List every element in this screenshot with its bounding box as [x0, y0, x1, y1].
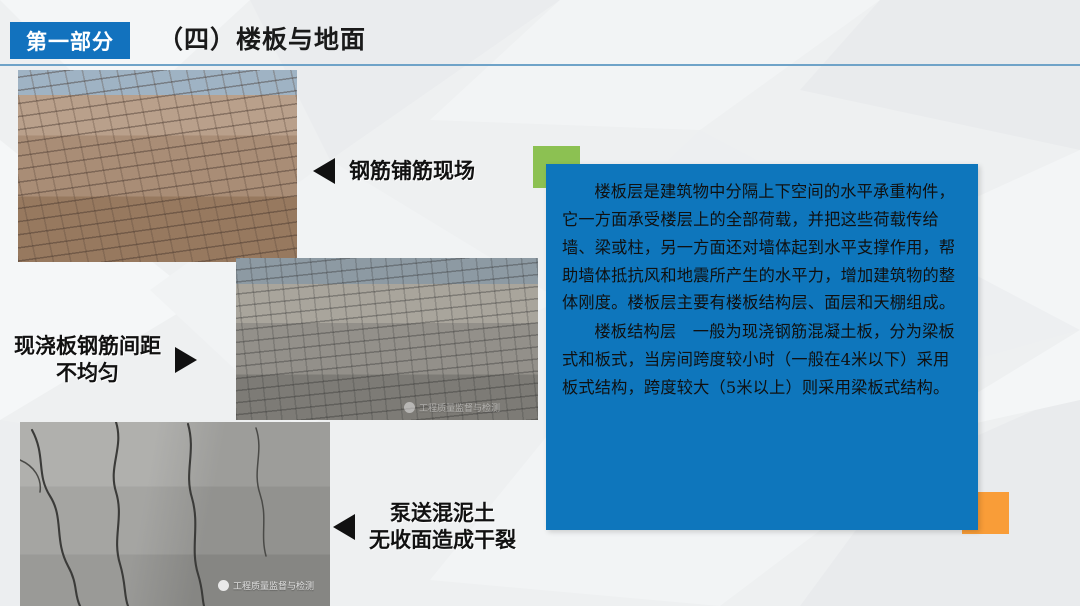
triangle-left-icon — [313, 158, 335, 184]
header-divider — [0, 64, 1080, 66]
body-paragraph-2: 楼板结构层 一般为现浇钢筋混凝土板，分为梁板式和板式，当房间跨度较小时（一般在4… — [562, 318, 962, 402]
concrete-pouring-photo: 工程质量监督与检测 — [236, 258, 538, 420]
caption-rebar-site: 钢筋铺筋现场 — [313, 158, 475, 185]
section-badge-label: 第一部分 — [26, 26, 114, 56]
watermark-logo-icon — [404, 402, 415, 413]
caption-bar-spacing: 现浇板钢筋间距 不均匀 — [14, 333, 197, 387]
photo-watermark: 工程质量监督与检测 — [404, 401, 500, 414]
photo-watermark-label: 工程质量监督与检测 — [419, 401, 500, 414]
triangle-left-icon — [333, 514, 355, 540]
photo-watermark-label: 工程质量监督与检测 — [233, 579, 314, 592]
rebar-mesh-photo — [18, 70, 297, 262]
caption-rebar-site-label: 钢筋铺筋现场 — [349, 158, 475, 185]
body-text-panel: 楼板层是建筑物中分隔上下空间的水平承重构件，它一方面承受楼层上的全部荷载，并把这… — [546, 164, 978, 530]
rebar-mesh-photo-image — [18, 70, 297, 262]
concrete-pouring-photo-image — [236, 258, 538, 420]
photo-watermark: 工程质量监督与检测 — [218, 579, 314, 592]
watermark-logo-icon — [218, 580, 229, 591]
triangle-right-icon — [175, 347, 197, 373]
page-title: （四）楼板与地面 — [158, 20, 366, 56]
caption-pump-cracks-label: 泵送混泥土 无收面造成干裂 — [369, 500, 516, 554]
cracked-floor-photo: 工程质量监督与检测 — [20, 422, 330, 606]
caption-bar-spacing-label: 现浇板钢筋间距 不均匀 — [14, 333, 161, 387]
slide-root: 第一部分 （四）楼板与地面 钢筋铺筋现场 工程质量监督与检测 现浇板钢筋间距 不… — [0, 0, 1080, 606]
section-badge: 第一部分 — [10, 22, 130, 59]
caption-pump-cracks: 泵送混泥土 无收面造成干裂 — [333, 500, 516, 554]
body-paragraph-1: 楼板层是建筑物中分隔上下空间的水平承重构件，它一方面承受楼层上的全部荷载，并把这… — [562, 178, 962, 317]
